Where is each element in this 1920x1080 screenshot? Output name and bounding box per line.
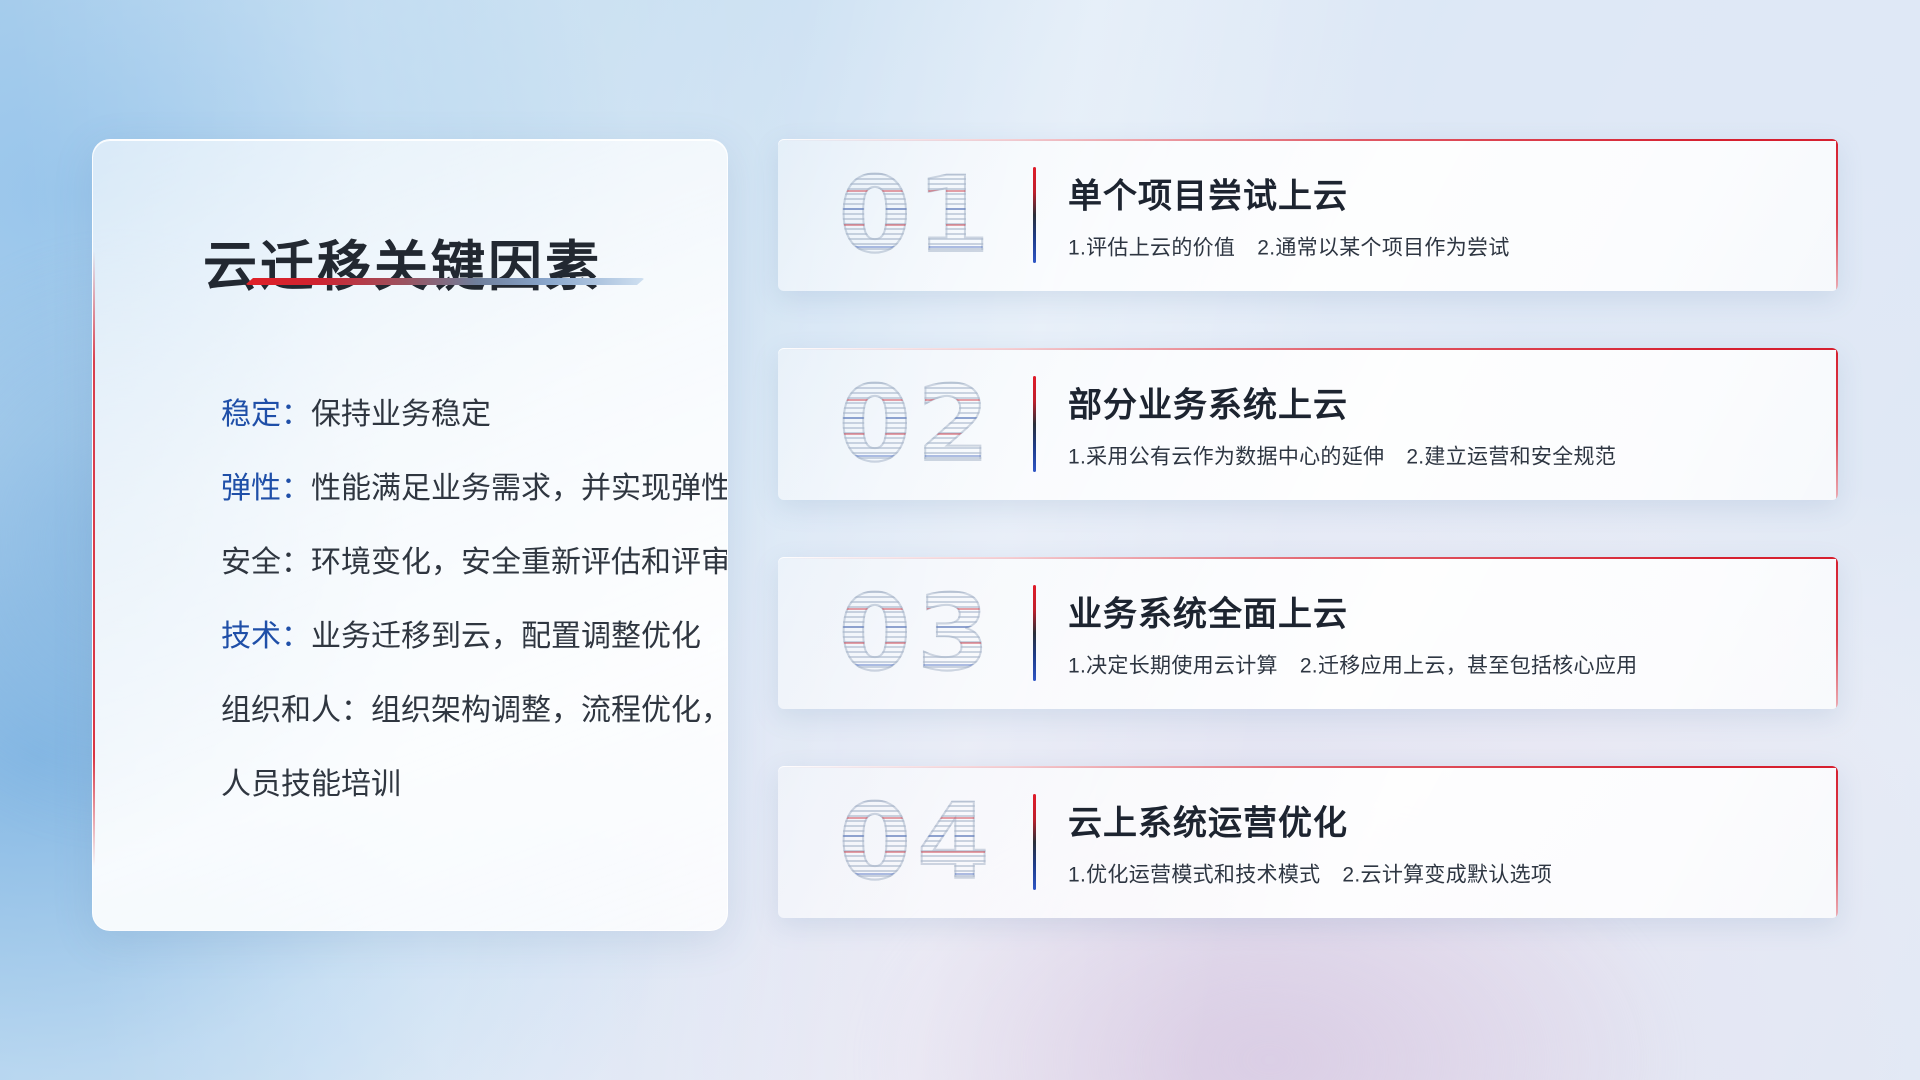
step-card[interactable]: 02 02 部分业务系统上云 1.采用公有云作为数据中心的延伸2.建立运营和安全… xyxy=(778,348,1838,500)
card-description: 1.采用公有云作为数据中心的延伸2.建立运营和安全规范 xyxy=(1068,441,1798,471)
step-number-accent: 03 xyxy=(812,574,1022,692)
card-divider-bar xyxy=(1033,376,1036,472)
card-right-accent-line xyxy=(1836,348,1838,500)
card-divider-bar xyxy=(1033,794,1036,890)
factor-text: 业务迁移到云，配置调整优化 xyxy=(311,620,701,653)
factor-label: 组织和人： xyxy=(221,694,371,727)
card-title: 部分业务系统上云 xyxy=(1068,378,1798,427)
card-top-accent-line xyxy=(778,766,1838,768)
step-number-text: 01 xyxy=(839,163,996,267)
key-factors-panel: 云迁移关键因素 稳定：保持业务稳定 弹性：性能满足业务需求，并实现弹性 安全：环… xyxy=(92,139,728,931)
page-title: 云迁移关键因素 xyxy=(203,222,602,301)
step-number-accent: 01 xyxy=(812,156,1022,274)
step-number-text: 03 xyxy=(839,581,996,685)
step-number-accent: 02 xyxy=(812,365,1022,483)
card-body: 云上系统运营优化 1.优化运营模式和技术模式2.云计算变成默认选项 xyxy=(1068,796,1798,889)
card-top-accent-line xyxy=(778,557,1838,559)
factor-label: 弹性： xyxy=(221,472,311,505)
step-number-graphic: 02 02 xyxy=(812,365,1022,483)
card-right-accent-line xyxy=(1836,139,1838,291)
list-item: 弹性：性能满足业务需求，并实现弹性 xyxy=(221,452,693,526)
list-item: 稳定：保持业务稳定 xyxy=(221,378,693,452)
card-right-accent-line xyxy=(1836,557,1838,709)
card-body: 部分业务系统上云 1.采用公有云作为数据中心的延伸2.建立运营和安全规范 xyxy=(1068,378,1798,471)
step-number-graphic: 04 04 xyxy=(812,783,1022,901)
step-number-accent: 04 xyxy=(812,783,1022,901)
step-card[interactable]: 04 04 云上系统运营优化 1.优化运营模式和技术模式2.云计算变成默认选项 xyxy=(778,766,1838,918)
card-description: 1.评估上云的价值2.通常以某个项目作为尝试 xyxy=(1068,232,1798,262)
card-description: 1.优化运营模式和技术模式2.云计算变成默认选项 xyxy=(1068,859,1798,889)
factor-text: 性能满足业务需求，并实现弹性 xyxy=(311,472,728,505)
factor-label: 安全： xyxy=(221,546,311,579)
step-number-text: 04 xyxy=(839,790,996,894)
list-item-continuation: 人员技能培训 xyxy=(221,748,693,822)
step-card[interactable]: 03 03 业务系统全面上云 1.决定长期使用云计算2.迁移应用上云，甚至包括核… xyxy=(778,557,1838,709)
migration-steps-list: 01 01 单个项目尝试上云 1.评估上云的价值2.通常以某个项目作为尝试 02… xyxy=(778,139,1838,918)
card-description: 1.决定长期使用云计算2.迁移应用上云，甚至包括核心应用 xyxy=(1068,650,1798,680)
step-number-graphic: 03 03 xyxy=(812,574,1022,692)
card-description-part-1: 1.决定长期使用云计算 xyxy=(1068,655,1278,678)
factor-text: 人员技能培训 xyxy=(221,768,401,801)
card-top-accent-line xyxy=(778,348,1838,350)
card-description-part-2: 2.迁移应用上云，甚至包括核心应用 xyxy=(1300,655,1638,678)
card-body: 业务系统全面上云 1.决定长期使用云计算2.迁移应用上云，甚至包括核心应用 xyxy=(1068,587,1798,680)
card-title: 业务系统全面上云 xyxy=(1068,587,1798,636)
factor-label: 技术： xyxy=(221,620,311,653)
step-number-graphic: 01 01 xyxy=(812,156,1022,274)
card-title: 云上系统运营优化 xyxy=(1068,796,1798,845)
list-item: 组织和人：组织架构调整，流程优化， xyxy=(221,674,693,748)
card-description-part-1: 1.优化运营模式和技术模式 xyxy=(1068,864,1320,887)
card-divider-bar xyxy=(1033,585,1036,681)
card-description-part-2: 2.建立运营和安全规范 xyxy=(1406,446,1616,469)
factor-text: 组织架构调整，流程优化， xyxy=(371,694,728,727)
card-description-part-2: 2.云计算变成默认选项 xyxy=(1342,864,1552,887)
card-top-accent-line xyxy=(778,139,1838,141)
card-description-part-2: 2.通常以某个项目作为尝试 xyxy=(1257,237,1509,260)
step-number-text: 02 xyxy=(839,372,996,476)
step-card[interactable]: 01 01 单个项目尝试上云 1.评估上云的价值2.通常以某个项目作为尝试 xyxy=(778,139,1838,291)
list-item: 安全：环境变化，安全重新评估和评审 xyxy=(221,526,693,600)
factor-list: 稳定：保持业务稳定 弹性：性能满足业务需求，并实现弹性 安全：环境变化，安全重新… xyxy=(221,378,693,822)
list-item: 技术：业务迁移到云，配置调整优化 xyxy=(221,600,693,674)
factor-text: 保持业务稳定 xyxy=(311,398,491,431)
card-divider-bar xyxy=(1033,167,1036,263)
card-title: 单个项目尝试上云 xyxy=(1068,169,1798,218)
card-body: 单个项目尝试上云 1.评估上云的价值2.通常以某个项目作为尝试 xyxy=(1068,169,1798,262)
factor-label: 稳定： xyxy=(221,398,311,431)
title-underline-rule xyxy=(245,278,645,285)
card-description-part-1: 1.评估上云的价值 xyxy=(1068,237,1235,260)
card-right-accent-line xyxy=(1836,766,1838,918)
factor-text: 环境变化，安全重新评估和评审 xyxy=(311,546,728,579)
slide-root: 云迁移关键因素 稳定：保持业务稳定 弹性：性能满足业务需求，并实现弹性 安全：环… xyxy=(0,0,1920,1080)
key-factors-panel-inner: 云迁移关键因素 稳定：保持业务稳定 弹性：性能满足业务需求，并实现弹性 安全：环… xyxy=(93,140,727,930)
card-description-part-1: 1.采用公有云作为数据中心的延伸 xyxy=(1068,446,1384,469)
